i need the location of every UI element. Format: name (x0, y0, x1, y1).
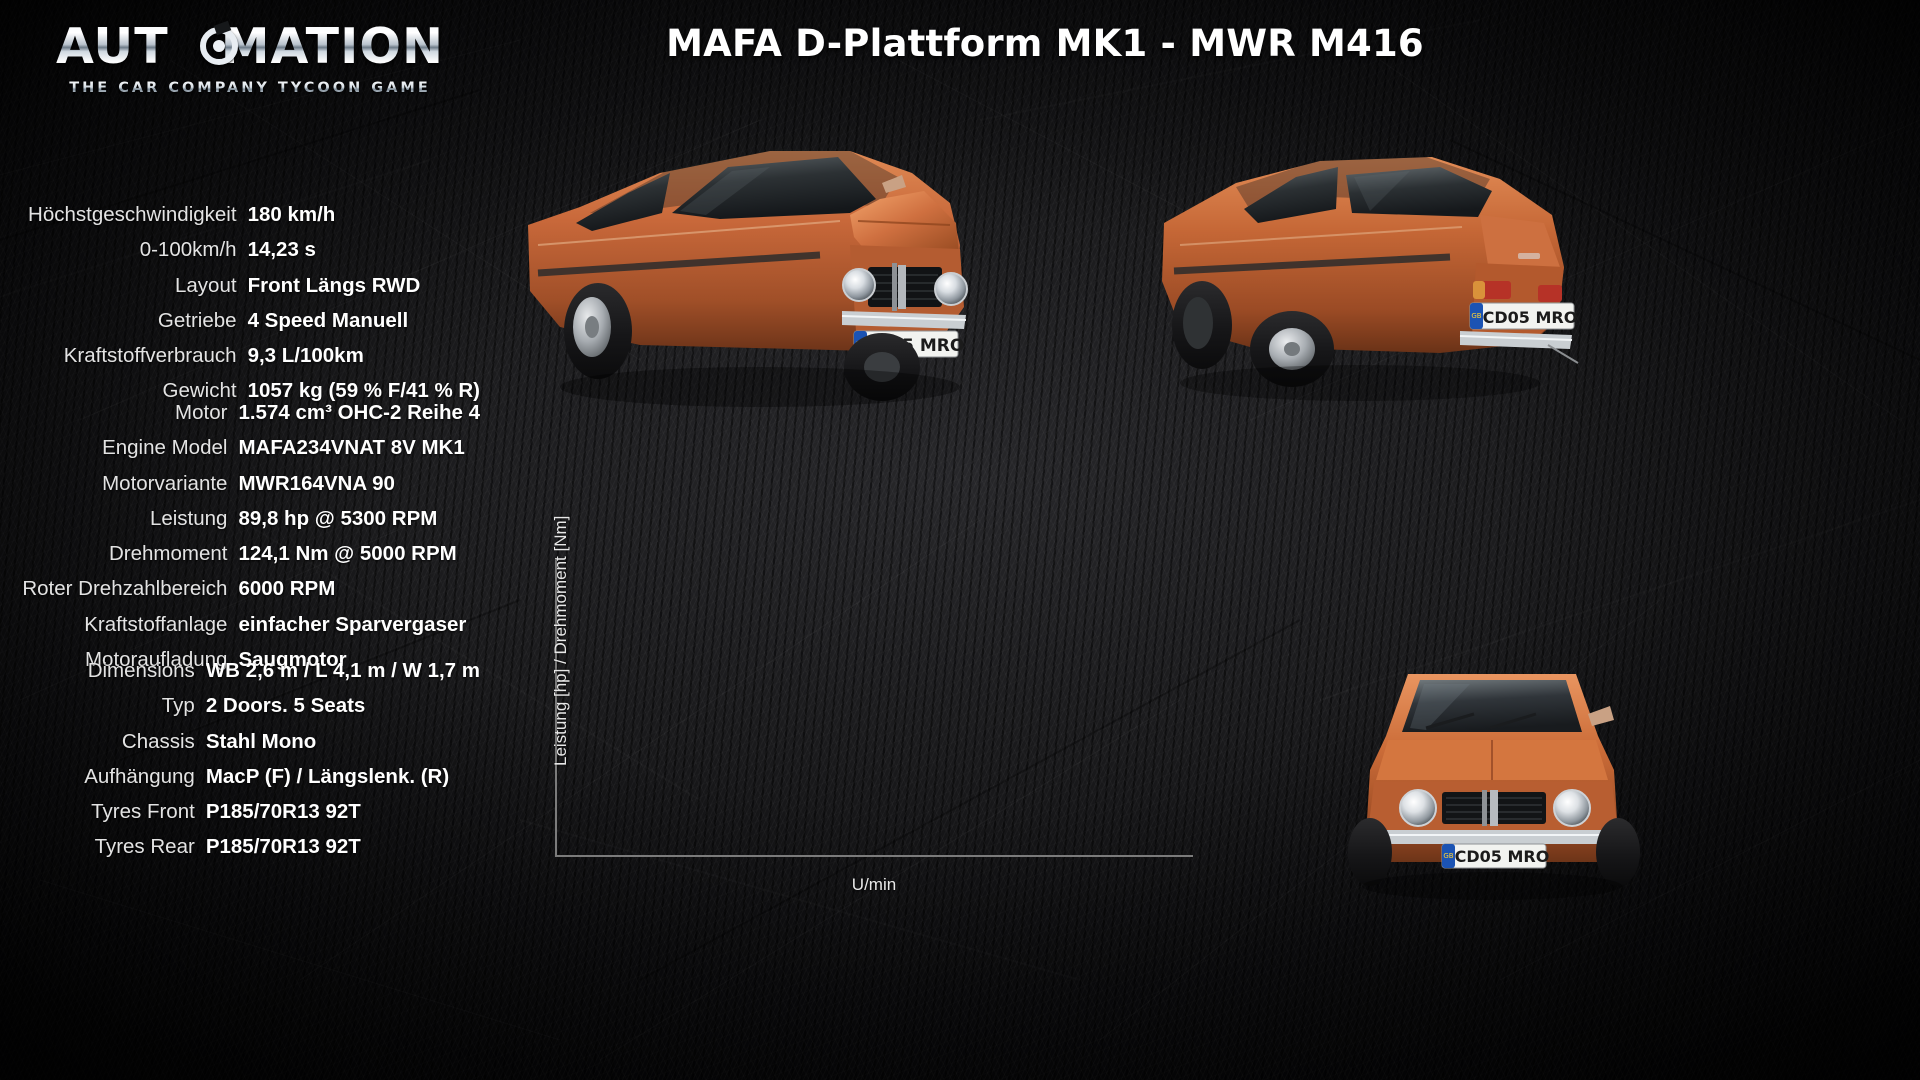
spec-label: Tyres Rear (0, 829, 206, 864)
car-render-front-view: GB CD05 MRO (1330, 640, 1660, 920)
logo-tagline: THE CAR COMPANY TYCOON GAME (40, 80, 460, 96)
spec-row: 0-100km/h 14,23 s (0, 232, 480, 267)
spec-value: MacP (F) / Längslenk. (R) (206, 759, 480, 794)
spec-row: Tyres Rear P185/70R13 92T (0, 829, 480, 864)
spec-row: Engine Model MAFA234VNAT 8V MK1 (0, 430, 480, 465)
svg-text:GB: GB (1443, 852, 1453, 860)
spec-label: Typ (0, 688, 206, 723)
spec-value: MAFA234VNAT 8V MK1 (238, 430, 480, 465)
spec-label: Kraftstoffanlage (0, 607, 238, 642)
spec-label: Höchstgeschwindigkeit (0, 197, 248, 232)
spec-table-performance: Höchstgeschwindigkeit 180 km/h 0-100km/h… (0, 197, 480, 409)
car-export-card: AUT MATION THE CAR COMPANY TYCOON GAME M… (0, 0, 1920, 1080)
spec-row: Motor 1.574 cm³ OHC-2 Reihe 4 (0, 395, 480, 430)
spec-value: 9,3 L/100km (248, 338, 480, 373)
spec-row: Roter Drehzahlbereich 6000 RPM (0, 571, 480, 606)
spec-row: Aufhängung MacP (F) / Längslenk. (R) (0, 759, 480, 794)
car-render-front-three-quarter: GB CD05 MRO (520, 95, 1080, 425)
dyno-y-axis-label: Leistung [hp] / Drehmoment [Nm] (551, 546, 571, 766)
spec-label: Roter Drehzahlbereich (0, 571, 238, 606)
spec-value: P185/70R13 92T (206, 794, 480, 829)
spec-value: 6000 RPM (238, 571, 480, 606)
spec-value: P185/70R13 92T (206, 829, 480, 864)
spec-row: Höchstgeschwindigkeit 180 km/h (0, 197, 480, 232)
spec-value: 2 Doors. 5 Seats (206, 688, 480, 723)
page-title: MAFA D-Plattform MK1 - MWR M416 (0, 22, 1920, 65)
spec-table-engine: Motor 1.574 cm³ OHC-2 Reihe 4 Engine Mod… (0, 395, 480, 677)
spec-label: Chassis (0, 724, 206, 759)
spec-row: Chassis Stahl Mono (0, 724, 480, 759)
dyno-x-axis-label: U/min (555, 875, 1193, 895)
spec-value: Stahl Mono (206, 724, 480, 759)
spec-label: Drehmoment (0, 536, 238, 571)
car-render-rear-three-quarter: GB CD05 MRO (1140, 105, 1610, 415)
spec-label: Kraftstoffverbrauch (0, 338, 248, 373)
spec-value: MWR164VNA 90 (238, 466, 480, 501)
spec-row: Dimensions WB 2,6 m / L 4,1 m / W 1,7 m (0, 653, 480, 688)
spec-table-body: Dimensions WB 2,6 m / L 4,1 m / W 1,7 m … (0, 653, 480, 865)
spec-label: Engine Model (0, 430, 238, 465)
spec-value: Front Längs RWD (248, 268, 480, 303)
spec-label: Motor (0, 395, 238, 430)
spec-value: 180 km/h (248, 197, 480, 232)
spec-row: Kraftstoffverbrauch 9,3 L/100km (0, 338, 480, 373)
spec-row: Drehmoment 124,1 Nm @ 5000 RPM (0, 536, 480, 571)
spec-row: Tyres Front P185/70R13 92T (0, 794, 480, 829)
svg-text:CD05 MRO: CD05 MRO (1483, 308, 1578, 327)
spec-value: WB 2,6 m / L 4,1 m / W 1,7 m (206, 653, 480, 688)
svg-text:CD05 MRO: CD05 MRO (1455, 847, 1550, 866)
spec-row: Motorvariante MWR164VNA 90 (0, 466, 480, 501)
spec-label: Tyres Front (0, 794, 206, 829)
spec-label: Dimensions (0, 653, 206, 688)
spec-value: 124,1 Nm @ 5000 RPM (238, 536, 480, 571)
spec-label: Getriebe (0, 303, 248, 338)
spec-row: Typ 2 Doors. 5 Seats (0, 688, 480, 723)
spec-value: einfacher Sparvergaser (238, 607, 480, 642)
dyno-chart: Leistung [hp] / Drehmoment [Nm] U/min (555, 560, 1195, 860)
spec-label: Aufhängung (0, 759, 206, 794)
spec-value: 14,23 s (248, 232, 480, 267)
spec-label: Leistung (0, 501, 238, 536)
spec-row: Layout Front Längs RWD (0, 268, 480, 303)
spec-label: 0-100km/h (0, 232, 248, 267)
dyno-plot-area (555, 560, 1193, 857)
spec-label: Layout (0, 268, 248, 303)
svg-text:GB: GB (1471, 312, 1481, 320)
spec-row: Getriebe 4 Speed Manuell (0, 303, 480, 338)
spec-value: 4 Speed Manuell (248, 303, 480, 338)
spec-label: Motorvariante (0, 466, 238, 501)
spec-row: Kraftstoffanlage einfacher Sparvergaser (0, 607, 480, 642)
spec-value: 1.574 cm³ OHC-2 Reihe 4 (238, 395, 480, 430)
spec-value: 89,8 hp @ 5300 RPM (238, 501, 480, 536)
spec-row: Leistung 89,8 hp @ 5300 RPM (0, 501, 480, 536)
